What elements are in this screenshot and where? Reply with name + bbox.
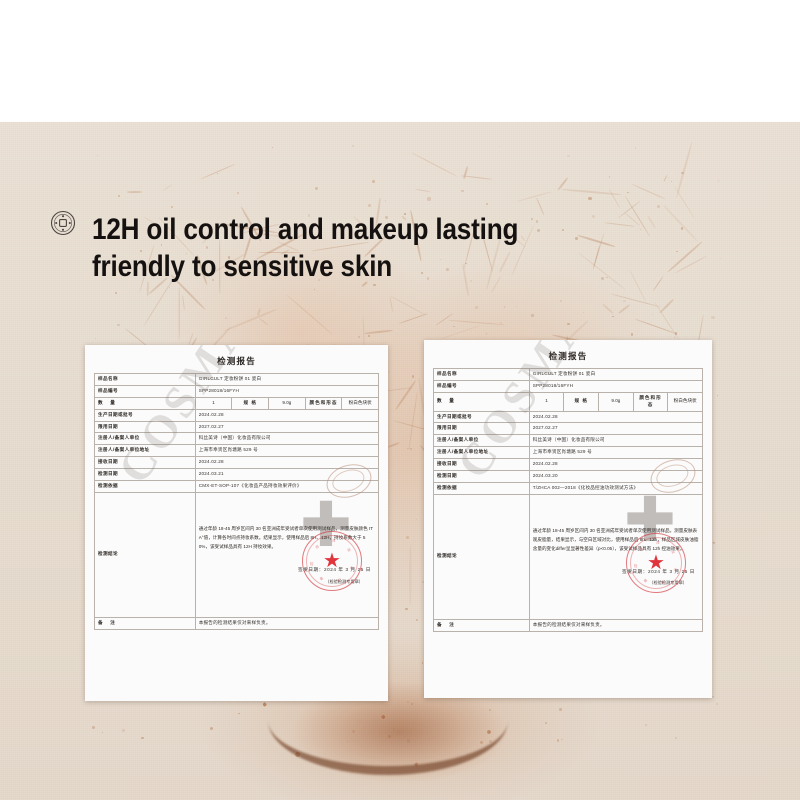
test-report-left[interactable]: COSMAX✚检测报告样品名称GIRLCULT 定妆粉饼 01 瓷白样品编号SP… bbox=[85, 345, 388, 701]
conclusion-label: 检测结论 bbox=[434, 494, 530, 619]
row-label: 样品编号 bbox=[434, 380, 530, 392]
color-value: 粉白色块状 bbox=[668, 392, 703, 411]
report-title: 检测报告 bbox=[433, 350, 703, 362]
note-row: 备 注本报告的检测结果仅对来样负责。 bbox=[434, 619, 703, 631]
spec-label: 规 格 bbox=[232, 397, 269, 409]
color-label: 颜色和形态 bbox=[633, 392, 668, 411]
note-label: 备 注 bbox=[95, 617, 196, 629]
row-value: GIRLCULT 定妆粉饼 01 瓷白 bbox=[195, 374, 378, 386]
row-value: 2027.02.27 bbox=[529, 423, 702, 435]
row-label: 限用日期 bbox=[95, 421, 196, 433]
row-value: SPP28018/16FYH bbox=[195, 385, 378, 397]
table-row: 接收日期2024.02.28 bbox=[95, 457, 379, 469]
report-title: 检测报告 bbox=[94, 355, 379, 367]
row-label: 注册人/备案人单位 bbox=[95, 433, 196, 445]
row-value: GIRLCULT 定妆粉饼 01 瓷白 bbox=[529, 369, 702, 381]
test-report-right[interactable]: COSMAX✚检测报告样品名称GIRLCULT 定妆粉饼 01 瓷白样品编号SP… bbox=[424, 340, 712, 698]
conclusion-value: 通过年龄 18-45 周岁区间内 30 名亚洲成年受试者单次使用测试样品，测量皮… bbox=[195, 492, 378, 617]
row-label: 生产日期或批号 bbox=[95, 409, 196, 421]
official-red-stamp: 检验检测专用章★ bbox=[626, 533, 686, 593]
table-row: 样品编号SPP28018/16FYH bbox=[95, 385, 379, 397]
note-value: 本报告的检测结果仅对来样负责。 bbox=[529, 619, 702, 631]
row-label: 注册人/备案人单位地址 bbox=[434, 447, 530, 459]
top-white-band bbox=[0, 0, 800, 122]
report-table: 样品名称GIRLCULT 定妆粉饼 01 瓷白样品编号SPP28018/16FY… bbox=[94, 373, 379, 630]
row-label: 注册人/备案人单位地址 bbox=[95, 445, 196, 457]
quantity-row: 数 量1规 格9.0g颜色和形态粉白色块状 bbox=[434, 392, 703, 411]
row-value: SPP28018/16FYH bbox=[529, 380, 702, 392]
row-label: 样品名称 bbox=[95, 374, 196, 386]
quantity-label: 数 量 bbox=[434, 392, 530, 411]
stamp-ring-text: 检验检测专用章 bbox=[303, 532, 361, 590]
table-row: 生产日期或批号2024.02.28 bbox=[434, 411, 703, 423]
report-table: 样品名称GIRLCULT 定妆粉饼 01 瓷白样品编号SPP28018/16FY… bbox=[433, 368, 703, 632]
row-value: 2027.02.27 bbox=[195, 421, 378, 433]
product-detail-image: 12H oil control and makeup lasting frien… bbox=[0, 0, 800, 800]
row-value: 科丝美诗（中国）化妆品有限公司 bbox=[195, 433, 378, 445]
headline-text: 12H oil control and makeup lasting frien… bbox=[92, 212, 544, 285]
conclusion-value: 通过年龄 18-45 周岁区间内 30 名亚洲成年受试者单次使用测试样品，测量皮… bbox=[529, 494, 702, 619]
row-label: 样品名称 bbox=[434, 369, 530, 381]
table-row: 注册人/备案人单位科丝美诗（中国）化妆品有限公司 bbox=[434, 435, 703, 447]
row-label: 生产日期或批号 bbox=[434, 411, 530, 423]
quantity-value: 1 bbox=[195, 397, 232, 409]
headline-block: 12H oil control and makeup lasting frien… bbox=[92, 212, 612, 285]
coin-badge-icon bbox=[48, 208, 78, 238]
row-value: 上海市奉贤区肖塘路 529 号 bbox=[195, 445, 378, 457]
table-row: 限用日期2027.02.27 bbox=[434, 423, 703, 435]
row-label: 检测日期 bbox=[95, 469, 196, 481]
table-row: 注册人/备案人单位地址上海市奉贤区肖塘路 529 号 bbox=[434, 447, 703, 459]
table-row: 样品编号SPP28018/16FYH bbox=[434, 380, 703, 392]
row-label: 接收日期 bbox=[434, 459, 530, 471]
row-label: 检测依据 bbox=[434, 482, 530, 494]
quantity-label: 数 量 bbox=[95, 397, 196, 409]
quantity-value: 1 bbox=[529, 392, 564, 411]
note-label: 备 注 bbox=[434, 619, 530, 631]
table-row: 限用日期2027.02.27 bbox=[95, 421, 379, 433]
row-value: 科丝美诗（中国）化妆品有限公司 bbox=[529, 435, 702, 447]
row-value: 2024.02.28 bbox=[195, 409, 378, 421]
row-label: 接收日期 bbox=[95, 457, 196, 469]
conclusion-label: 检测结论 bbox=[95, 492, 196, 617]
row-label: 检测日期 bbox=[434, 471, 530, 483]
note-row: 备 注本报告的检测结果仅对来样负责。 bbox=[95, 617, 379, 629]
spec-value: 9.0g bbox=[599, 392, 634, 411]
table-row: 生产日期或批号2024.02.28 bbox=[95, 409, 379, 421]
table-row: 样品名称GIRLCULT 定妆粉饼 01 瓷白 bbox=[95, 374, 379, 386]
row-label: 样品编号 bbox=[95, 385, 196, 397]
row-label: 限用日期 bbox=[434, 423, 530, 435]
row-label: 注册人/备案人单位 bbox=[434, 435, 530, 447]
color-label: 颜色和形态 bbox=[305, 397, 342, 409]
official-red-stamp: 检验检测专用章★ bbox=[302, 531, 362, 591]
color-value: 粉白色块状 bbox=[342, 397, 379, 409]
quantity-row: 数 量1规 格9.0g颜色和形态粉白色块状 bbox=[95, 397, 379, 409]
note-value: 本报告的检测结果仅对来样负责。 bbox=[195, 617, 378, 629]
table-row: 样品名称GIRLCULT 定妆粉饼 01 瓷白 bbox=[434, 369, 703, 381]
stamp-ring-text: 检验检测专用章 bbox=[627, 534, 685, 592]
spec-label: 规 格 bbox=[564, 392, 599, 411]
conclusion-row: 检测结论通过年龄 18-45 周岁区间内 30 名亚洲成年受试者单次使用测试样品… bbox=[434, 494, 703, 619]
spec-value: 9.0g bbox=[269, 397, 306, 409]
table-row: 注册人/备案人单位地址上海市奉贤区肖塘路 529 号 bbox=[95, 445, 379, 457]
table-row: 注册人/备案人单位科丝美诗（中国）化妆品有限公司 bbox=[95, 433, 379, 445]
row-label: 检测依据 bbox=[95, 481, 196, 493]
row-value: 上海市奉贤区肖塘路 529 号 bbox=[529, 447, 702, 459]
conclusion-row: 检测结论通过年龄 18-45 周岁区间内 30 名亚洲成年受试者单次使用测试样品… bbox=[95, 492, 379, 617]
row-value: 2024.02.28 bbox=[529, 411, 702, 423]
